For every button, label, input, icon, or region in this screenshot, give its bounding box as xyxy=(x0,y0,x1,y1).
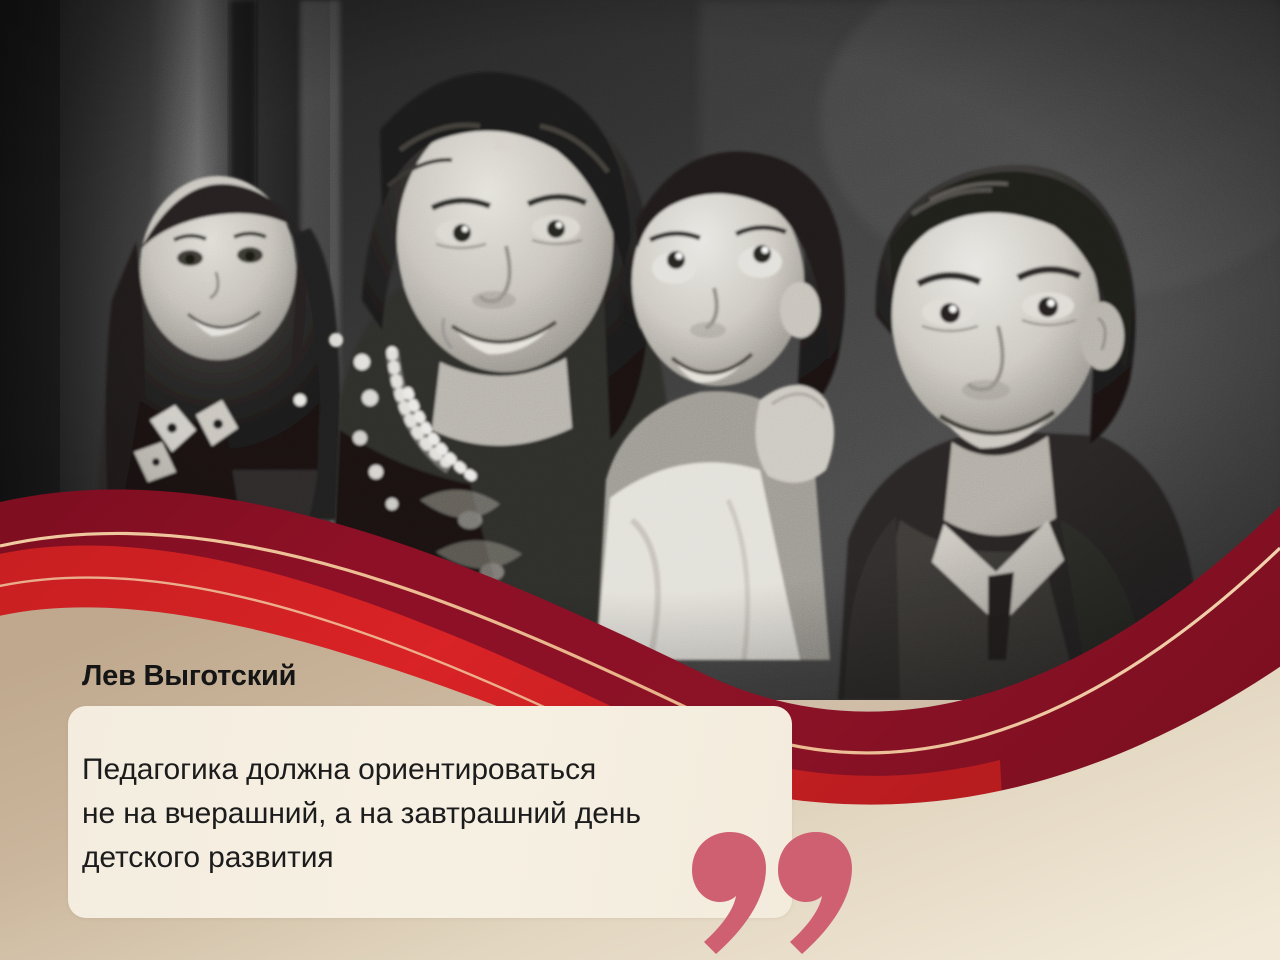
quote-text: Педагогика должна ориентироваться не на … xyxy=(82,748,782,880)
poster-root: Лев Выготский Педагогика должна ориентир… xyxy=(0,0,1280,960)
author-name: Лев Выготский xyxy=(82,660,296,693)
